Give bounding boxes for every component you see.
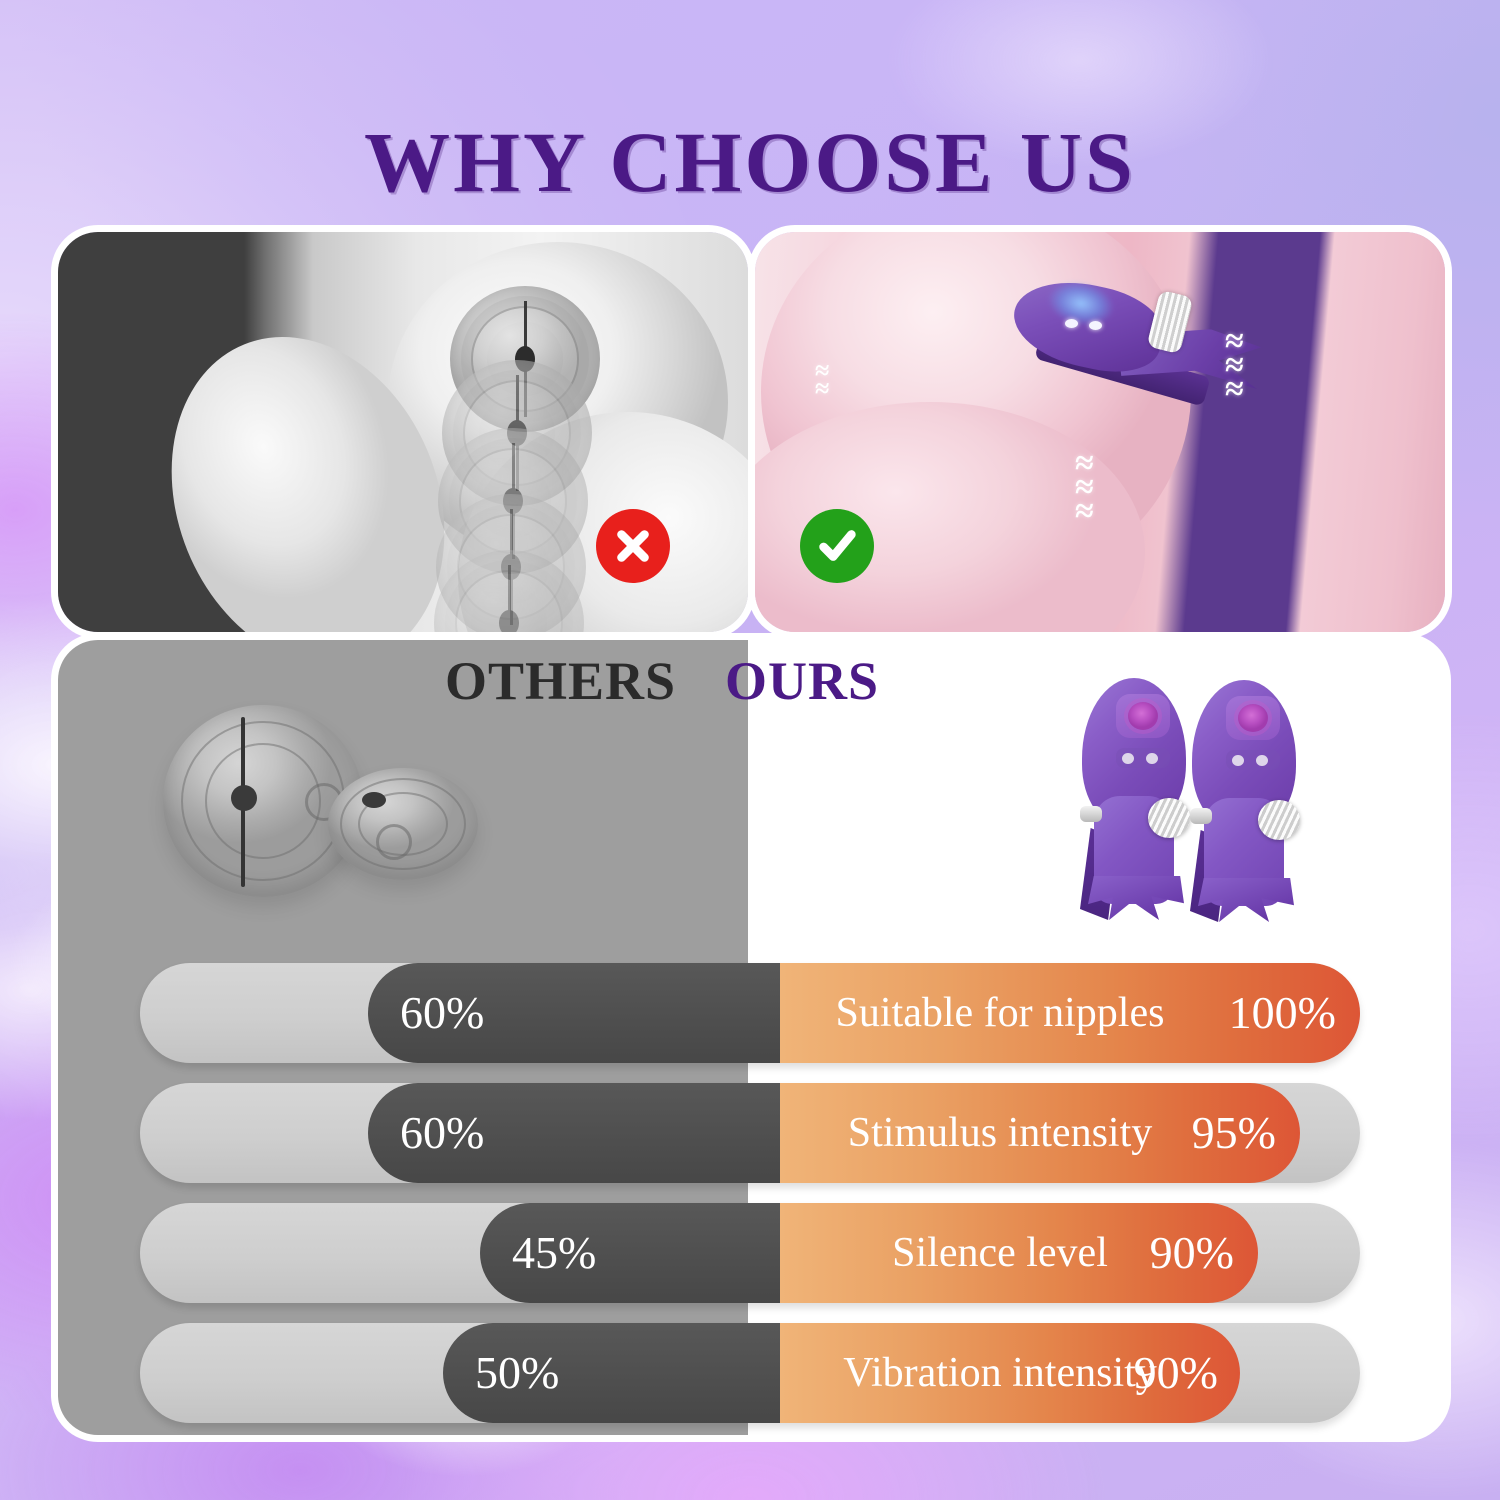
vibration-wave-icon: ≈≈≈ [1225,330,1242,401]
infographic-page: WHY CHOOSE US [0,0,1500,1500]
ours-column-label: OURS [725,650,879,712]
purple-clip-device-icon [1005,267,1225,447]
comparison-panel [58,640,1444,1435]
page-title: WHY CHOOSE US [0,112,1500,212]
others-column-label: OTHERS [445,650,676,712]
check-badge [800,509,874,583]
ours-product-image [1058,668,1358,938]
vibration-wave-icon: ≈≈≈ [1075,452,1092,523]
cross-badge [596,509,670,583]
others-product-image [118,690,518,940]
close-icon [610,523,656,569]
check-icon [814,523,860,569]
vibration-wave-icon: ≈≈ [815,362,827,398]
